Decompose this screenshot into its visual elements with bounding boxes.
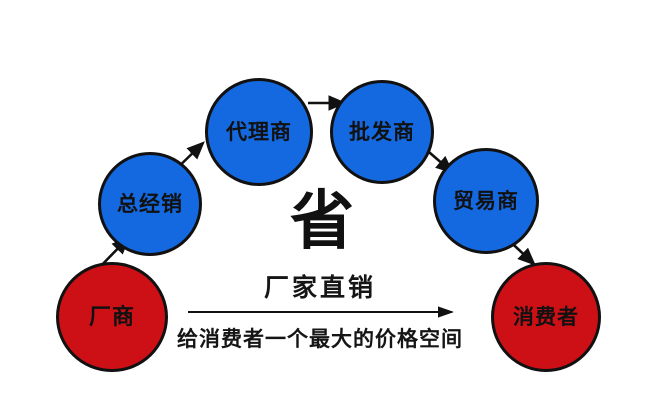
caption-factory-direct-sales: 厂家直销 <box>175 275 465 303</box>
node-manufacturer[interactable]: 厂商 <box>56 262 168 372</box>
diagram-canvas: 厂商 总经销 代理商 批发商 贸易商 消费者 省 厂家直销 给消费者一个最大的价… <box>0 0 645 417</box>
node-consumer[interactable]: 消费者 <box>491 262 601 372</box>
node-wholesaler[interactable]: 批发商 <box>330 80 434 184</box>
node-trader[interactable]: 贸易商 <box>433 148 539 254</box>
center-character: 省 <box>262 172 382 272</box>
node-consumer-label: 消费者 <box>513 307 579 328</box>
node-general-agent-label: 总经销 <box>117 194 183 215</box>
node-agent[interactable]: 代理商 <box>205 78 313 186</box>
node-wholesaler-label: 批发商 <box>349 122 415 143</box>
node-trader-label: 贸易商 <box>453 191 519 212</box>
caption-price-space: 给消费者一个最大的价格空间 <box>150 328 490 351</box>
node-general-agent[interactable]: 总经销 <box>98 152 202 256</box>
node-agent-label: 代理商 <box>226 122 292 143</box>
node-manufacturer-label: 厂商 <box>89 306 135 328</box>
